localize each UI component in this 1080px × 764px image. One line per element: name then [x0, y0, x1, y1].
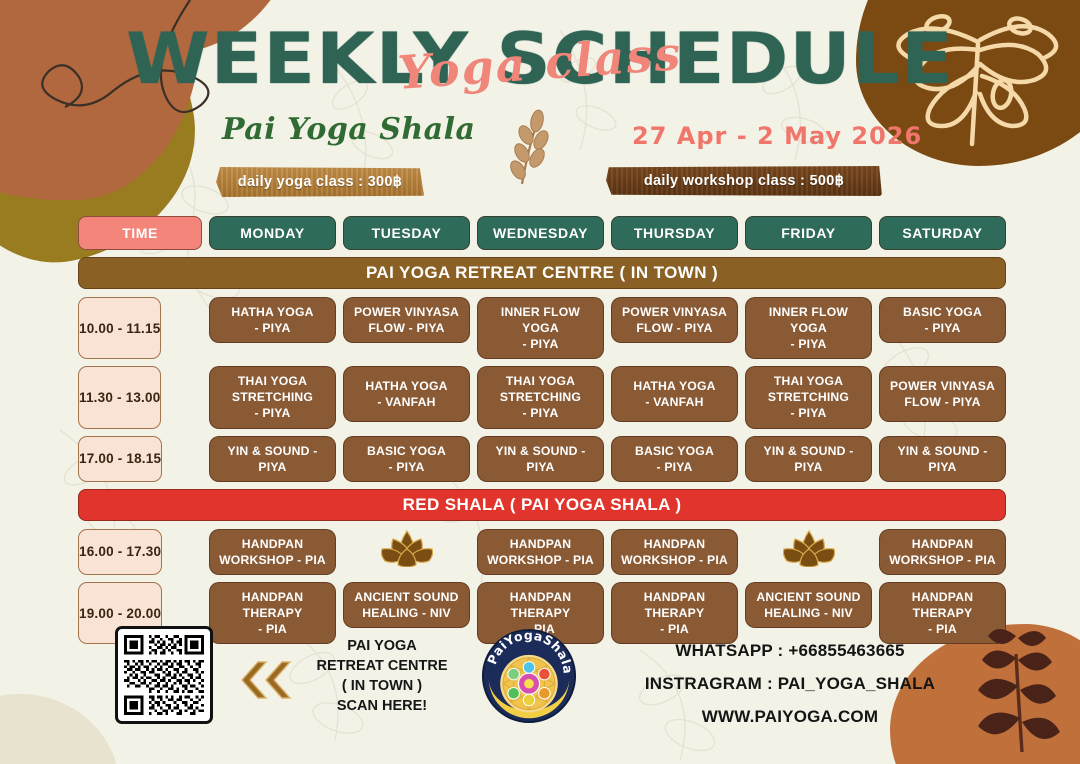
class-cell[interactable]: THAI YOGASTRETCHING- PIYA	[745, 366, 872, 428]
class-cell[interactable]: POWER VINYASAFLOW - PIYA	[611, 297, 738, 343]
column-header-tuesday[interactable]: TUESDAY	[343, 216, 470, 250]
schedule-row: 10.00 - 11.15HATHA YOGA- PIYAPOWER VINYA…	[78, 297, 1006, 359]
schedule-row: 11.30 - 13.00THAI YOGASTRETCHING- PIYAHA…	[78, 366, 1006, 428]
class-cell[interactable]: YIN & SOUND - PIYA	[209, 436, 336, 482]
date-range: 27 Apr - 2 May 2026	[632, 122, 922, 150]
section-bar-1: RED SHALA ( PAI YOGA SHALA )	[78, 489, 1006, 521]
double-chevron-left-icon	[232, 660, 294, 700]
schedule-row: 16.00 - 17.30HANDPANWORKSHOP - PIA HANDP…	[78, 529, 1006, 575]
price-plaque-yoga: daily yoga class : 300฿	[216, 167, 424, 197]
class-cell[interactable]: BASIC YOGA- PIYA	[611, 436, 738, 482]
column-header-thursday[interactable]: THURSDAY	[611, 216, 738, 250]
class-cell[interactable]: HANDPANWORKSHOP - PIA	[477, 529, 604, 575]
class-cell[interactable]: INNER FLOW YOGA- PIYA	[477, 297, 604, 359]
schedule-grid: TIMEMONDAYTUESDAYWEDNESDAYTHURSDAYFRIDAY…	[78, 216, 1006, 651]
schedule-row: 17.00 - 18.15YIN & SOUND - PIYABASIC YOG…	[78, 436, 1006, 482]
qr-code[interactable]	[115, 626, 213, 724]
time-slot: 10.00 - 11.15	[78, 297, 161, 359]
wheat-sprig-icon	[482, 108, 558, 184]
class-cell[interactable]: BASIC YOGA- PIYA	[879, 297, 1006, 343]
leaf-branch-icon	[964, 612, 1074, 752]
lotus-flower-icon	[381, 529, 433, 567]
price-plaque-workshop: daily workshop class : 500฿	[606, 166, 882, 196]
class-cell[interactable]: THAI YOGASTRETCHING- PIYA	[477, 366, 604, 428]
class-cell[interactable]: HANDPANWORKSHOP - PIA	[611, 529, 738, 575]
empty-slot-ornament	[343, 529, 470, 567]
class-cell[interactable]: POWER VINYASAFLOW - PIYA	[343, 297, 470, 343]
schedule-header-row: TIMEMONDAYTUESDAYWEDNESDAYTHURSDAYFRIDAY…	[78, 216, 1006, 250]
class-cell[interactable]: HATHA YOGA- VANFAH	[611, 366, 738, 422]
column-header-friday[interactable]: FRIDAY	[745, 216, 872, 250]
section-bar-0: PAI YOGA RETREAT CENTRE ( IN TOWN )	[78, 257, 1006, 289]
qr-code-icon	[124, 635, 204, 715]
scan-instructions: PAI YOGARETREAT CENTRE( IN TOWN )SCAN HE…	[312, 636, 452, 716]
class-cell[interactable]: YIN & SOUND - PIYA	[745, 436, 872, 482]
class-cell[interactable]: HATHA YOGA- PIYA	[209, 297, 336, 343]
title-main-text: WEEKLY SCHEDULE	[0, 14, 1080, 104]
class-cell[interactable]: YIN & SOUND - PIYA	[477, 436, 604, 482]
class-cell[interactable]: YIN & SOUND - PIYA	[879, 436, 1006, 482]
class-cell[interactable]: INNER FLOW YOGA- PIYA	[745, 297, 872, 359]
column-header-saturday[interactable]: SATURDAY	[879, 216, 1006, 250]
instagram-line: INSTRAGRAM : PAI_YOGA_SHALA	[600, 667, 980, 700]
class-cell[interactable]: HATHA YOGA- VANFAH	[343, 366, 470, 422]
class-cell[interactable]: BASIC YOGA- PIYA	[343, 436, 470, 482]
column-header-wednesday[interactable]: WEDNESDAY	[477, 216, 604, 250]
class-cell[interactable]: HANDPANWORKSHOP - PIA	[209, 529, 336, 575]
time-slot: 16.00 - 17.30	[78, 529, 162, 575]
website-line: WWW.PAIYOGA.COM	[600, 700, 980, 733]
class-cell[interactable]: THAI YOGASTRETCHING- PIYA	[209, 366, 336, 428]
contact-info: WHATSAPP : +66855463665 INSTRAGRAM : PAI…	[600, 634, 980, 733]
studio-name: Pai Yoga Shala	[222, 112, 475, 147]
column-header-time[interactable]: TIME	[78, 216, 202, 250]
empty-slot-ornament	[745, 529, 872, 567]
class-cell[interactable]: HANDPANWORKSHOP - PIA	[879, 529, 1006, 575]
column-header-monday[interactable]: MONDAY	[209, 216, 336, 250]
poster-footer: PAI YOGARETREAT CENTRE( IN TOWN )SCAN HE…	[0, 622, 1080, 752]
lotus-flower-icon	[783, 529, 835, 567]
whatsapp-line: WHATSAPP : +66855463665	[600, 634, 980, 667]
time-slot: 11.30 - 13.00	[78, 366, 161, 428]
time-slot: 17.00 - 18.15	[78, 436, 162, 482]
poster-title: WEEKLY SCHEDULE Yoga class	[0, 14, 1080, 106]
pai-yoga-shala-logo: PaiYogaShala	[481, 628, 577, 724]
class-cell[interactable]: POWER VINYASAFLOW - PIYA	[879, 366, 1006, 422]
weekly-schedule-poster: WEEKLY SCHEDULE Yoga class Pai Yoga Shal…	[0, 0, 1080, 764]
